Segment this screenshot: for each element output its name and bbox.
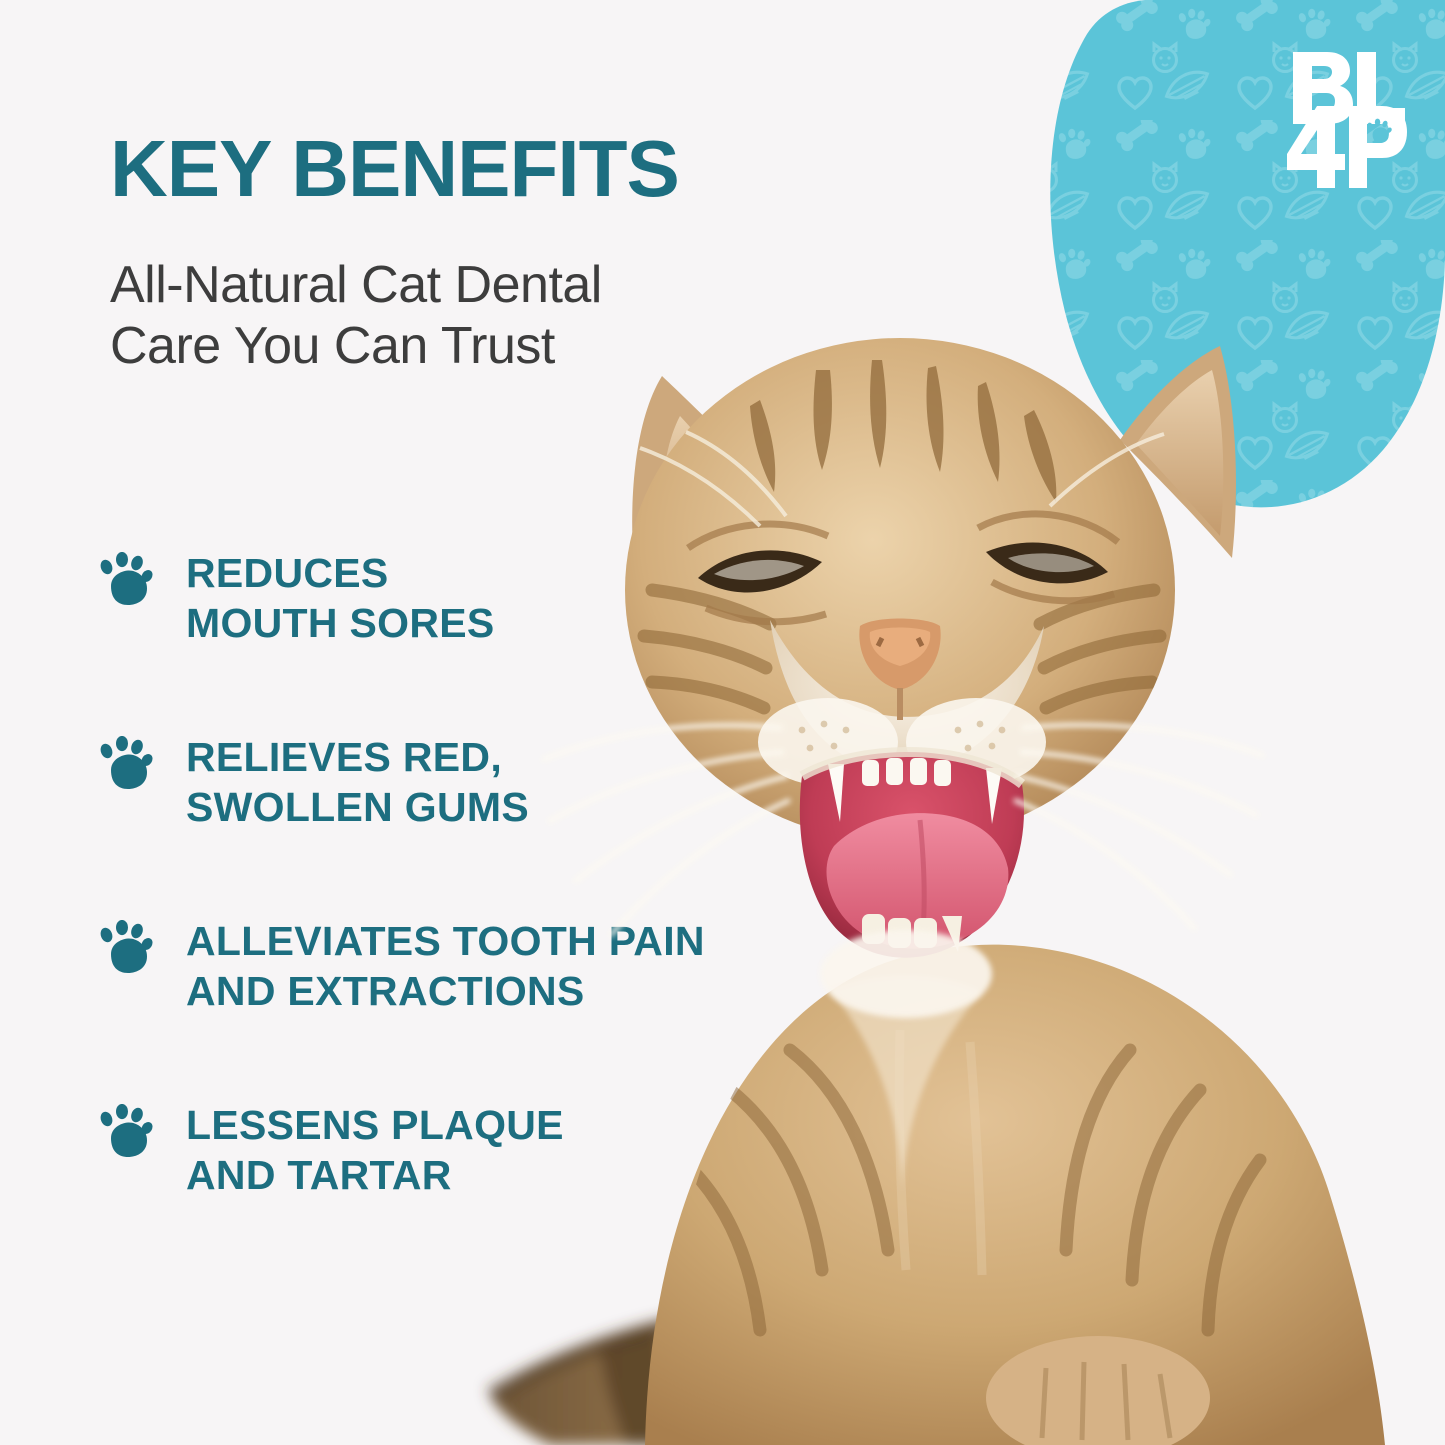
paw-print-icon [100,552,154,608]
benefit-line-1: REDUCES [186,548,495,598]
benefit-line-2: AND EXTRACTIONS [186,966,705,1016]
benefit-line-2: AND TARTAR [186,1150,564,1200]
cat-open-mouth [800,752,1024,958]
benefit-label: REDUCES MOUTH SORES [186,548,495,648]
benefit-line-1: ALLEVIATES TOOTH PAIN [186,916,705,966]
benefit-label: ALLEVIATES TOOTH PAIN AND EXTRACTIONS [186,916,705,1016]
brand-logo [1287,44,1407,194]
product-benefits-infographic: KEY BENEFITS All-Natural Cat Dental Care… [0,0,1445,1445]
paw-print-icon [100,920,154,976]
cat-nose [859,619,940,721]
benefit-label: LESSENS PLAQUE AND TARTAR [186,1100,564,1200]
benefits-list: REDUCES MOUTH SORES RELIEVES RED, [100,548,830,1200]
benefit-label: RELIEVES RED, SWOLLEN GUMS [186,732,529,832]
paw-print-icon [100,1104,154,1160]
subtitle-line-1: All-Natural Cat Dental [110,255,602,316]
page-title: KEY BENEFITS [110,130,679,208]
benefit-line-2: SWOLLEN GUMS [186,782,529,832]
list-item: LESSENS PLAQUE AND TARTAR [100,1100,830,1200]
list-item: REDUCES MOUTH SORES [100,548,830,648]
list-item: ALLEVIATES TOOTH PAIN AND EXTRACTIONS [100,916,830,1016]
paw-print-icon [100,736,154,792]
cat-front-paw [986,1336,1210,1445]
cat-tail [490,1300,1130,1445]
list-item: RELIEVES RED, SWOLLEN GUMS [100,732,830,832]
benefit-line-1: RELIEVES RED, [186,732,529,782]
subtitle-line-2: Care You Can Trust [110,316,602,377]
benefit-line-2: MOUTH SORES [186,598,495,648]
benefit-line-1: LESSENS PLAQUE [186,1100,564,1150]
page-subtitle: All-Natural Cat Dental Care You Can Trus… [110,255,602,378]
